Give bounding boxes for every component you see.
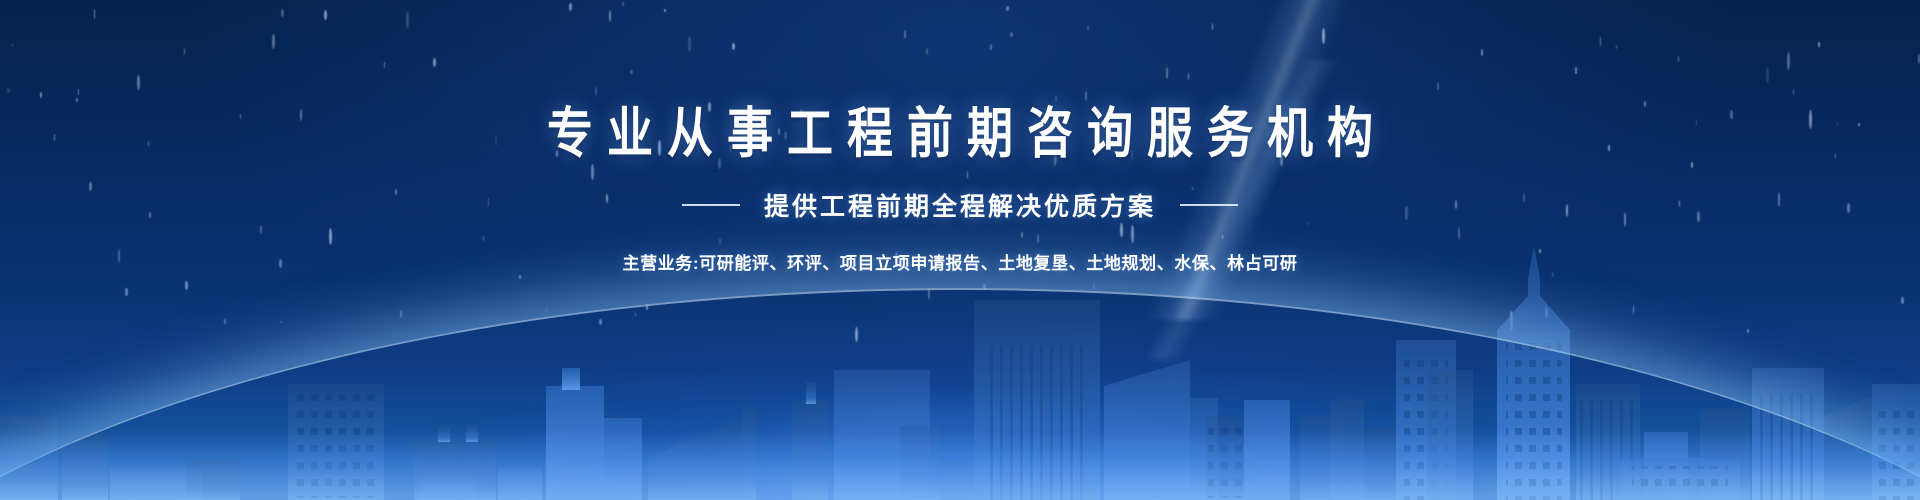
banner-headline: 专业从事工程前期咨询服务机构 [533,106,1387,160]
dash-left-icon [682,204,740,206]
banner-content: 专业从事工程前期咨询服务机构 提供工程前期全程解决优质方案 主营业务:可研能评、… [0,0,1920,500]
dash-right-icon [1180,204,1238,206]
banner-subline: 提供工程前期全程解决优质方案 [764,187,1156,223]
banner-business-line: 主营业务:可研能评、环评、项目立项申请报告、土地复垦、土地规划、水保、林占可研 [622,249,1297,274]
banner-subline-row: 提供工程前期全程解决优质方案 [682,187,1238,223]
hero-banner: 专业从事工程前期咨询服务机构 提供工程前期全程解决优质方案 主营业务:可研能评、… [0,0,1920,500]
